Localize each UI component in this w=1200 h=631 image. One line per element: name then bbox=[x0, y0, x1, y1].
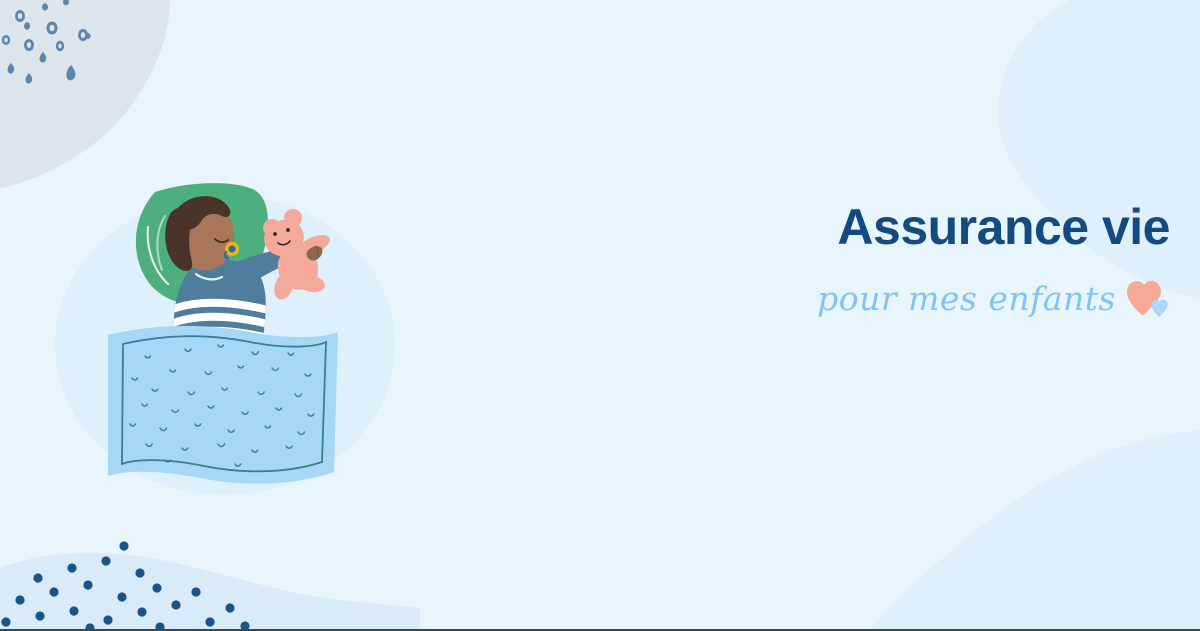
subtitle-row: pour mes enfants bbox=[700, 277, 1170, 319]
child-hair bbox=[165, 196, 230, 271]
page-subtitle: pour mes enfants bbox=[817, 279, 1116, 318]
closed-eye bbox=[215, 239, 228, 242]
child-body bbox=[166, 250, 289, 358]
pacifier bbox=[225, 242, 239, 258]
illustration-backdrop-blob bbox=[55, 195, 395, 495]
assurance-vie-banner: Assurance vie pour mes enfants bbox=[0, 0, 1200, 631]
bottom-right-blob bbox=[870, 430, 1200, 631]
headline-block: Assurance vie pour mes enfants bbox=[700, 200, 1170, 319]
child-head bbox=[165, 196, 239, 271]
top-left-blob bbox=[0, 0, 170, 188]
blanket-pattern bbox=[130, 345, 314, 466]
green-pillow bbox=[136, 183, 268, 305]
shirt-stripes bbox=[166, 299, 268, 358]
teddy-patch bbox=[307, 246, 323, 260]
navy-dot-grid bbox=[1, 541, 249, 631]
teddy-bear bbox=[260, 209, 333, 302]
droplet-scatter bbox=[2, 0, 91, 84]
bottom-left-wave bbox=[0, 553, 420, 631]
heart-icon bbox=[1126, 277, 1170, 319]
blanket bbox=[108, 326, 338, 484]
heart-secondary-shape bbox=[1152, 300, 1168, 317]
page-title: Assurance vie bbox=[700, 200, 1170, 255]
